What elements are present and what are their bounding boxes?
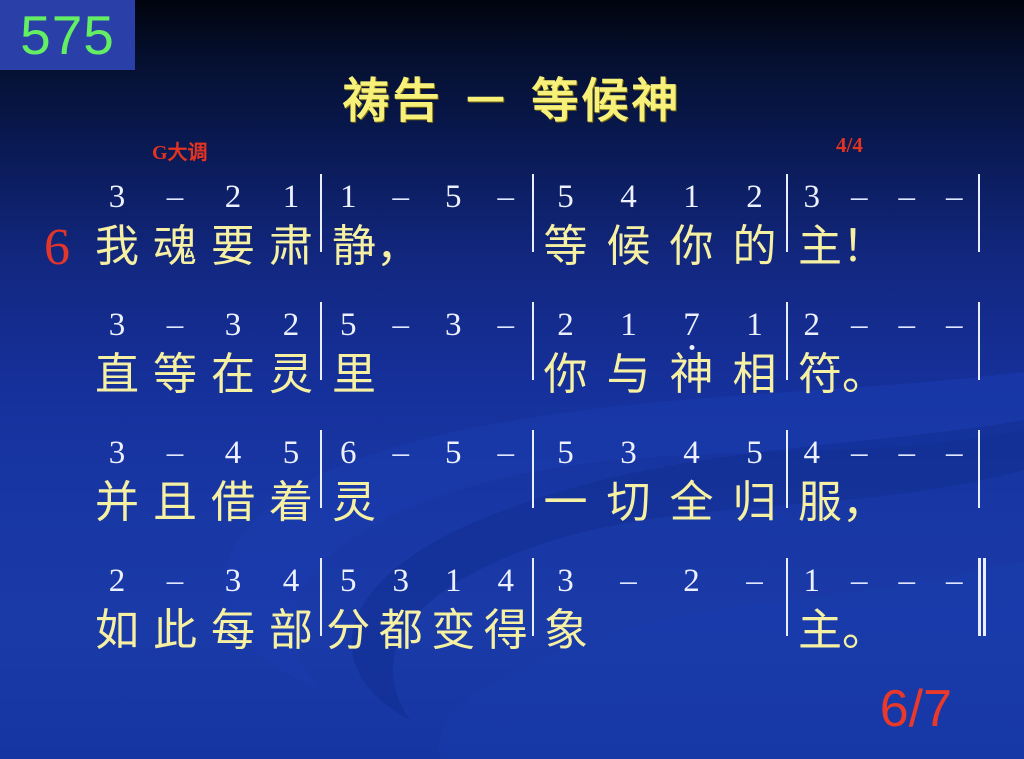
note-number: 5 (338, 562, 358, 600)
lyric-measure: 符。 (788, 344, 978, 406)
note-number: 5 (556, 178, 576, 216)
note-number: 5 (281, 434, 301, 472)
note-number: 3 (391, 562, 411, 600)
lyric-measure: 里 (322, 344, 532, 406)
note-number: 2 (745, 178, 765, 216)
music-notation-body: 3–211–5–54123–––我魂要肃静，等候你的主！3–325–3–2171… (88, 178, 968, 690)
lyric-char: 神 (670, 344, 714, 406)
hymn-number: 575 (20, 8, 115, 63)
lyric-char: 全 (670, 472, 714, 534)
lyric-row: 并且借着灵一切全归服， (88, 472, 968, 534)
lyric-measure: 你与神相 (534, 344, 786, 406)
note-number: 2 (802, 306, 822, 344)
lyric-char: 肃 (269, 216, 313, 278)
note-sustain-dash: – (944, 434, 964, 472)
lyric-char: 候 (607, 216, 651, 278)
note-number: 3 (443, 306, 463, 344)
note-number: 7 (682, 306, 702, 344)
lyric-char: 切 (607, 472, 651, 534)
note-row: 3–211–5–54123––– (88, 178, 968, 220)
note-row: 3–325–3–21712––– (88, 306, 968, 348)
note-sustain-dash: – (849, 562, 869, 600)
note-number: 3 (223, 306, 243, 344)
lyric-row: 直等在灵里你与神相符。 (88, 344, 968, 406)
lyric-char: 每 (211, 600, 255, 662)
measure: 2––– (788, 306, 978, 344)
lyric-measure: 并且借着 (88, 472, 320, 534)
measure: 5412 (534, 178, 786, 216)
lyric-char: 在 (211, 344, 255, 406)
measure: 5314 (322, 562, 532, 600)
measure: 5–3– (322, 306, 532, 344)
lyric-row: 我魂要肃静，等候你的主！ (88, 216, 968, 278)
note-sustain-dash: – (165, 434, 185, 472)
note-sustain-dash: – (849, 434, 869, 472)
note-sustain-dash: – (165, 562, 185, 600)
note-sustain-dash: – (391, 306, 411, 344)
lyric-char: 一 (544, 472, 588, 534)
note-number: 1 (802, 562, 822, 600)
note-number: 5 (443, 178, 463, 216)
lyric-char: 变 (431, 600, 475, 662)
lyric-measure: 服， (788, 472, 978, 534)
lyric-measure-gap (978, 216, 980, 278)
lyric-measure-gap (978, 472, 980, 534)
note-number: 3 (556, 562, 576, 600)
note-sustain-dash: – (897, 434, 917, 472)
note-number: 4 (802, 434, 822, 472)
lyric-char: 你 (544, 344, 588, 406)
measure: 1––– (788, 562, 978, 600)
lyric-char: 里 (332, 344, 376, 406)
note-number: 1 (443, 562, 463, 600)
lyric-char: 等 (544, 216, 588, 278)
lyric-measure-gap (978, 344, 980, 406)
music-line: 3–211–5–54123–––我魂要肃静，等候你的主！ (88, 178, 968, 306)
measure: 2171 (534, 306, 786, 344)
note-number: 4 (281, 562, 301, 600)
lyric-char: 借 (211, 472, 255, 534)
lyric-char: 且 (153, 472, 197, 534)
note-number: 2 (281, 306, 301, 344)
lyric-measure: 一切全归 (534, 472, 786, 534)
note-sustain-dash: – (496, 178, 516, 216)
note-number: 1 (745, 306, 765, 344)
music-line: 3–325–3–21712–––直等在灵里你与神相符。 (88, 306, 968, 434)
note-sustain-dash: – (165, 306, 185, 344)
lyric-char: 相 (733, 344, 777, 406)
note-number: 4 (496, 562, 516, 600)
lyric-measure: 我魂要肃 (88, 216, 320, 278)
lyric-row: 如此每部分都变得象主。 (88, 600, 968, 662)
measure: 1–5– (322, 178, 532, 216)
note-number: 4 (223, 434, 243, 472)
lyric-char: 部 (269, 600, 313, 662)
lyric-char: 符。 (798, 344, 886, 406)
note-number: 3 (223, 562, 243, 600)
lyric-char: 魂 (153, 216, 197, 278)
lyric-char: 并 (95, 472, 139, 534)
page-indicator: 6/7 (880, 683, 952, 735)
note-sustain-dash: – (897, 306, 917, 344)
note-number: 2 (556, 306, 576, 344)
measure: 3–32 (88, 306, 320, 344)
note-sustain-dash: – (745, 562, 765, 600)
note-number: 3 (802, 178, 822, 216)
note-number: 5 (443, 434, 463, 472)
lyric-char: 都 (379, 600, 423, 662)
lyric-char: 你 (670, 216, 714, 278)
note-sustain-dash: – (944, 178, 964, 216)
measure: 6–5– (322, 434, 532, 472)
note-number: 1 (682, 178, 702, 216)
note-row: 3–456–5–53454––– (88, 434, 968, 476)
note-number: 5 (745, 434, 765, 472)
note-sustain-dash: – (944, 562, 964, 600)
measure: 3–45 (88, 434, 320, 472)
note-sustain-dash: – (619, 562, 639, 600)
music-line: 2–3453143–2–1–––如此每部分都变得象主。 (88, 562, 968, 690)
note-number: 3 (619, 434, 639, 472)
note-number: 5 (338, 306, 358, 344)
note-number: 4 (682, 434, 702, 472)
note-number: 3 (107, 306, 127, 344)
time-signature-label: 4/4 (836, 133, 863, 158)
lyric-char: 服， (798, 472, 886, 534)
lyric-measure: 灵 (322, 472, 532, 534)
note-sustain-dash: – (944, 306, 964, 344)
note-number: 2 (107, 562, 127, 600)
note-sustain-dash: – (165, 178, 185, 216)
measure: 2–34 (88, 562, 320, 600)
lyric-measure-gap (978, 600, 980, 662)
lyric-char: 得 (484, 600, 528, 662)
note-sustain-dash: – (849, 178, 869, 216)
lyric-measure: 直等在灵 (88, 344, 320, 406)
stanza-number: 6 (44, 222, 70, 274)
lyric-char: 主。 (798, 600, 886, 662)
lyric-measure: 分都变得 (322, 600, 532, 662)
lyric-measure: 等候你的 (534, 216, 786, 278)
note-sustain-dash: – (391, 178, 411, 216)
lyric-char: 等 (153, 344, 197, 406)
lyric-measure: 象 (534, 600, 786, 662)
lyric-measure: 静， (322, 216, 532, 278)
music-line: 3–456–5–53454–––并且借着灵一切全归服， (88, 434, 968, 562)
lyric-char: 分 (326, 600, 370, 662)
note-number: 3 (107, 178, 127, 216)
note-number: 2 (682, 562, 702, 600)
lyric-measure: 主！ (788, 216, 978, 278)
hymn-slide: 575 祷告 － 等候神 G大调 4/4 6 3–211–5–54123–––我… (0, 0, 1024, 759)
note-number: 1 (281, 178, 301, 216)
note-sustain-dash: – (496, 306, 516, 344)
lyric-char: 静， (332, 216, 420, 278)
note-number: 1 (619, 306, 639, 344)
lyric-char: 与 (607, 344, 651, 406)
lyric-char: 要 (211, 216, 255, 278)
lyric-char: 着 (269, 472, 313, 534)
measure: 3––– (788, 178, 978, 216)
lyric-char: 此 (153, 600, 197, 662)
measure: 3–2– (534, 562, 786, 600)
lyric-char: 主！ (798, 216, 886, 278)
lyric-char: 归 (733, 472, 777, 534)
measure: 4––– (788, 434, 978, 472)
lyric-char: 灵 (332, 472, 376, 534)
note-sustain-dash: – (849, 306, 869, 344)
measure: 3–21 (88, 178, 320, 216)
note-number: 3 (107, 434, 127, 472)
note-number: 4 (619, 178, 639, 216)
lyric-measure: 主。 (788, 600, 978, 662)
measure: 5345 (534, 434, 786, 472)
key-signature-label: G大调 (152, 136, 208, 165)
note-sustain-dash: – (897, 178, 917, 216)
hymn-number-badge: 575 (0, 0, 135, 70)
note-number: 5 (556, 434, 576, 472)
lyric-char: 象 (544, 600, 588, 662)
note-number: 2 (223, 178, 243, 216)
note-number: 6 (338, 434, 358, 472)
note-sustain-dash: – (897, 562, 917, 600)
lyric-char: 我 (95, 216, 139, 278)
note-sustain-dash: – (496, 434, 516, 472)
note-sustain-dash: – (391, 434, 411, 472)
note-row: 2–3453143–2–1––– (88, 562, 968, 604)
lyric-char: 灵 (269, 344, 313, 406)
lyric-char: 的 (733, 216, 777, 278)
note-number: 1 (338, 178, 358, 216)
slide-title: 祷告 － 等候神 (0, 62, 1024, 131)
lyric-measure: 如此每部 (88, 600, 320, 662)
lyric-char: 直 (95, 344, 139, 406)
lyric-char: 如 (95, 600, 139, 662)
